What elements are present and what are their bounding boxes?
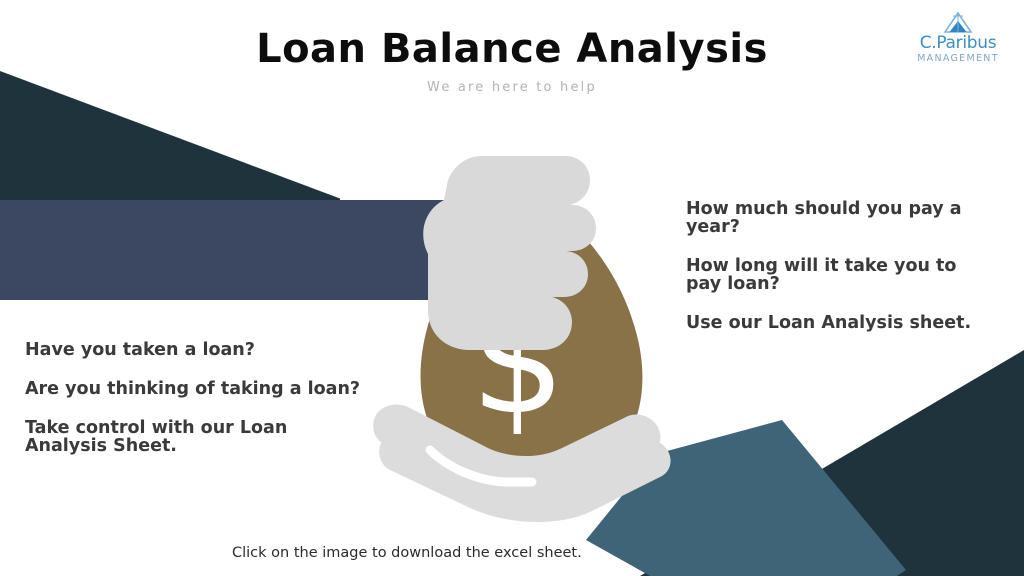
page-title: Loan Balance Analysis [0, 26, 1024, 72]
page-subtitle: We are here to help [0, 80, 1024, 95]
right-line-1: How much should you pay a year? [686, 200, 986, 236]
left-line-2: Are you thinking of taking a loan? [25, 380, 370, 398]
right-line-2: How long will it take you to pay loan? [686, 257, 986, 293]
gripping-fist-icon [423, 156, 596, 350]
right-text-column: How much should you pay a year? How long… [686, 200, 986, 332]
brand-name: C.Paribus [904, 35, 1012, 53]
left-text-column: Have you taken a loan? Are you thinking … [25, 341, 370, 455]
download-caption: Click on the image to download the excel… [232, 545, 582, 561]
brand-subtitle: MANAGEMENT [904, 53, 1012, 64]
left-line-1: Have you taken a loan? [25, 341, 370, 359]
hand-holding-money-bag-illustration[interactable]: $ [366, 150, 672, 540]
slide-canvas: $ Loan Balance Analysis We are here to h… [0, 0, 1024, 576]
brand-logo[interactable]: C.Paribus MANAGEMENT [904, 12, 1012, 64]
tent-triangle-icon [943, 12, 973, 34]
left-line-3: Take control with our Loan Analysis Shee… [25, 419, 370, 455]
right-line-3: Use our Loan Analysis sheet. [686, 314, 986, 332]
